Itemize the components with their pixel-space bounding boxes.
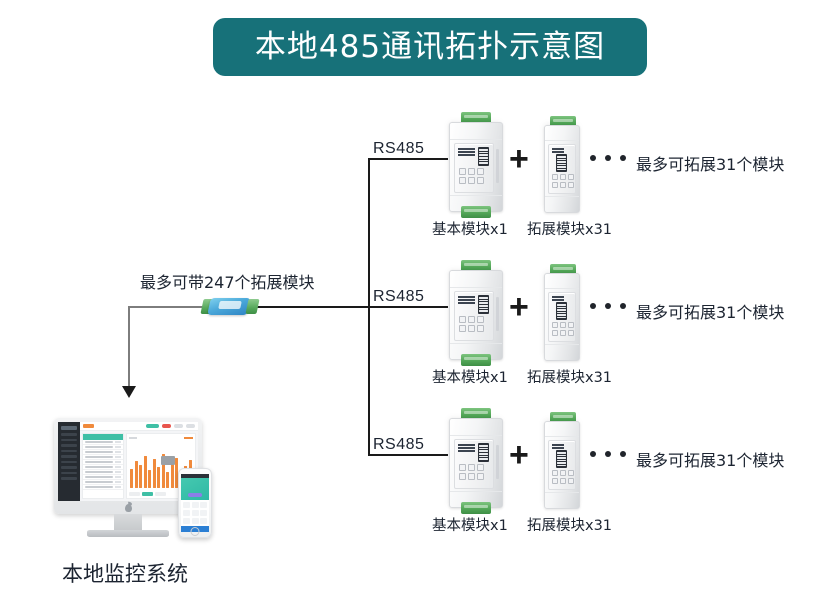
module-button-grid [459, 464, 484, 480]
extension-module-2 [538, 264, 590, 364]
phone-app-grid [181, 500, 209, 526]
module-button-grid [552, 322, 574, 336]
converter-terminal-right [245, 299, 259, 314]
extension-module-caption-1: 拓展模块x31 [527, 218, 612, 239]
base-module-3 [443, 408, 513, 514]
expand-note-1: 最多可拓展31个模块 [636, 151, 784, 175]
list-item [83, 485, 123, 490]
dashboard-device-list [82, 433, 124, 499]
base-module-2 [443, 260, 513, 366]
page-title: 本地485通讯拓扑示意图 [255, 32, 605, 63]
module-dip-switch [556, 450, 567, 468]
converter-to-host-line-vertical [128, 306, 130, 388]
module-body [544, 125, 580, 213]
plus-symbol-1: + [509, 142, 529, 176]
module-dip-switch [478, 295, 489, 314]
converter-to-host-line-horizontal [128, 306, 204, 308]
expand-note-2: 最多可拓展31个模块 [636, 299, 784, 323]
sidebar-item [61, 455, 77, 458]
sidebar-item [61, 433, 77, 436]
module-dip-switch [478, 443, 489, 462]
module-body [544, 421, 580, 509]
page-title-banner: 本地485通讯拓扑示意图 [213, 18, 647, 76]
module-terminal-bottom [461, 354, 491, 366]
module-label-barcode [552, 296, 564, 301]
module-rail-line [545, 140, 579, 141]
diagram-canvas: 本地485通讯拓扑示意图 最多可带247个拓展模块 RS485 [0, 0, 815, 605]
module-rail-line [545, 196, 579, 197]
module-button-grid [552, 470, 574, 484]
chart-legend [184, 437, 193, 439]
module-terminal-bottom [461, 206, 491, 218]
module-button-grid [459, 316, 484, 332]
smartphone [178, 468, 212, 538]
dashboard-sidebar [58, 422, 80, 501]
sidebar-item [61, 472, 77, 475]
extension-module-3 [538, 412, 590, 512]
chart-tooltip [161, 456, 175, 465]
module-body [544, 273, 580, 361]
expand-note-3: 最多可拓展31个模块 [636, 447, 784, 471]
apple-logo-icon [125, 504, 132, 512]
branch-line-3 [368, 454, 448, 456]
module-rail-line [450, 287, 502, 288]
dashboard-tab [83, 424, 94, 428]
converter-to-trunk-line [248, 306, 368, 308]
dashboard-user-button [186, 424, 195, 428]
module-body [449, 418, 503, 508]
bus-label-3: RS485 [373, 436, 424, 454]
base-module-caption-2: 基本模块x1 [432, 366, 508, 387]
sidebar-item [61, 461, 77, 464]
phone-primary-button [188, 493, 202, 497]
module-rail-line [450, 491, 502, 492]
ellipsis-dots-3 [590, 451, 626, 457]
module-rail-line [450, 435, 502, 436]
converter-label [218, 301, 242, 309]
module-dip-switch [478, 147, 489, 166]
module-label-barcode [458, 148, 475, 156]
module-side-vent [496, 445, 499, 479]
plus-symbol-3: + [509, 438, 529, 472]
host-system-caption: 本地监控系统 [62, 558, 188, 588]
module-front-panel [454, 439, 494, 489]
plus-symbol-2: + [509, 290, 529, 324]
module-rail-line [545, 436, 579, 437]
phone-screen [181, 474, 209, 532]
module-front-panel [548, 292, 576, 342]
module-rail-line [450, 195, 502, 196]
converter-capacity-note: 最多可带247个拓展模块 [140, 269, 315, 293]
dashboard-action-button [146, 424, 159, 428]
module-rail-line [545, 288, 579, 289]
bus-label-1: RS485 [373, 140, 424, 158]
rs485-usb-converter [201, 296, 259, 318]
module-front-panel [454, 291, 494, 341]
module-rail-line [450, 343, 502, 344]
module-label-barcode [458, 444, 475, 452]
module-dip-switch [556, 302, 567, 320]
module-button-grid [459, 168, 484, 184]
module-side-vent [496, 297, 499, 331]
base-module-caption-1: 基本模块x1 [432, 218, 508, 239]
ellipsis-dots-1 [590, 155, 626, 161]
sidebar-item [61, 466, 77, 469]
module-rail-line [545, 344, 579, 345]
monitor-stand-foot [87, 530, 169, 537]
bus-label-2: RS485 [373, 288, 424, 306]
module-button-grid [552, 174, 574, 188]
module-label-barcode [552, 148, 564, 153]
module-label-barcode [458, 296, 475, 304]
dashboard-logo [61, 426, 77, 430]
base-module-caption-3: 基本模块x1 [432, 514, 508, 535]
branch-line-1 [368, 158, 448, 160]
module-label-barcode [552, 444, 564, 449]
module-rail-line [545, 492, 579, 493]
dashboard-toolbar [80, 422, 198, 431]
branch-line-2 [368, 306, 448, 308]
module-body [449, 270, 503, 360]
extension-module-1 [538, 116, 590, 216]
sidebar-item [61, 477, 77, 480]
monitor-stand-neck [114, 514, 142, 531]
module-side-vent [496, 149, 499, 183]
extension-module-caption-2: 拓展模块x31 [527, 366, 612, 387]
module-front-panel [548, 440, 576, 490]
module-terminal-bottom [461, 502, 491, 514]
dashboard-menu-button [174, 424, 183, 428]
sidebar-item [61, 444, 77, 447]
host-arrowhead-icon [122, 386, 136, 398]
phone-home-button [191, 527, 200, 536]
base-module-1 [443, 112, 513, 218]
module-front-panel [548, 144, 576, 194]
sidebar-item [61, 450, 77, 453]
phone-hero-panel [181, 478, 209, 500]
module-body [449, 122, 503, 212]
sidebar-item [61, 439, 77, 442]
module-dip-switch [556, 154, 567, 172]
module-rail-line [450, 139, 502, 140]
ellipsis-dots-2 [590, 303, 626, 309]
extension-module-caption-3: 拓展模块x31 [527, 514, 612, 535]
module-front-panel [454, 143, 494, 193]
dashboard-alert-badge [162, 424, 171, 428]
monitor-screen [58, 422, 198, 501]
